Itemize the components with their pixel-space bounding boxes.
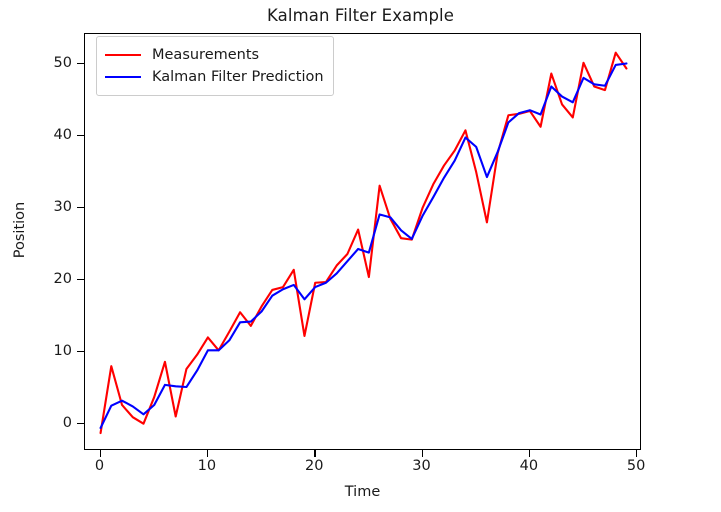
y-tick-label: 0 [63, 415, 72, 431]
x-tick-mark [207, 450, 208, 457]
y-tick-label: 30 [54, 199, 72, 215]
figure-canvas: Kalman Filter Example Measurements Kalma… [0, 0, 721, 512]
y-tick-mark [77, 207, 84, 208]
x-tick-mark [422, 450, 423, 457]
y-tick-label: 20 [54, 271, 72, 287]
x-axis-label: Time [84, 484, 641, 500]
legend-box: Measurements Kalman Filter Prediction [96, 36, 334, 96]
x-tick-mark [636, 450, 637, 457]
y-tick-mark [77, 351, 84, 352]
y-tick-label: 10 [54, 343, 72, 359]
y-tick-mark [77, 423, 84, 424]
legend-label-measurements: Measurements [152, 47, 259, 63]
x-tick-label: 10 [198, 458, 216, 474]
y-axis-tick-labels: 01020304050 [40, 33, 72, 450]
x-tick-mark [100, 450, 101, 457]
x-axis-tick-labels: 01020304050 [0, 458, 721, 478]
x-tick-label: 30 [412, 458, 430, 474]
plot-svg [85, 34, 642, 451]
y-tick-mark [77, 279, 84, 280]
y-axis-label: Position [12, 180, 28, 280]
x-tick-mark [314, 450, 315, 457]
y-tick-mark [77, 63, 84, 64]
x-tick-label: 20 [305, 458, 323, 474]
x-tick-label: 40 [520, 458, 538, 474]
plot-area: Measurements Kalman Filter Prediction [84, 33, 641, 450]
legend-item-measurements: Measurements [105, 44, 324, 66]
y-tick-label: 40 [54, 127, 72, 143]
legend-item-kalman-filter-prediction: Kalman Filter Prediction [105, 66, 324, 88]
chart-title: Kalman Filter Example [0, 6, 721, 25]
y-tick-label: 50 [54, 55, 72, 71]
legend-swatch-kalman-filter-prediction [105, 76, 141, 78]
x-tick-label: 50 [627, 458, 645, 474]
y-tick-mark [77, 135, 84, 136]
legend-swatch-measurements [105, 54, 141, 56]
x-tick-mark [529, 450, 530, 457]
x-tick-label: 0 [95, 458, 104, 474]
series-line-measurements [101, 53, 627, 433]
series-line-kalman-filter-prediction [101, 63, 627, 428]
legend-label-kalman-filter-prediction: Kalman Filter Prediction [152, 69, 324, 85]
